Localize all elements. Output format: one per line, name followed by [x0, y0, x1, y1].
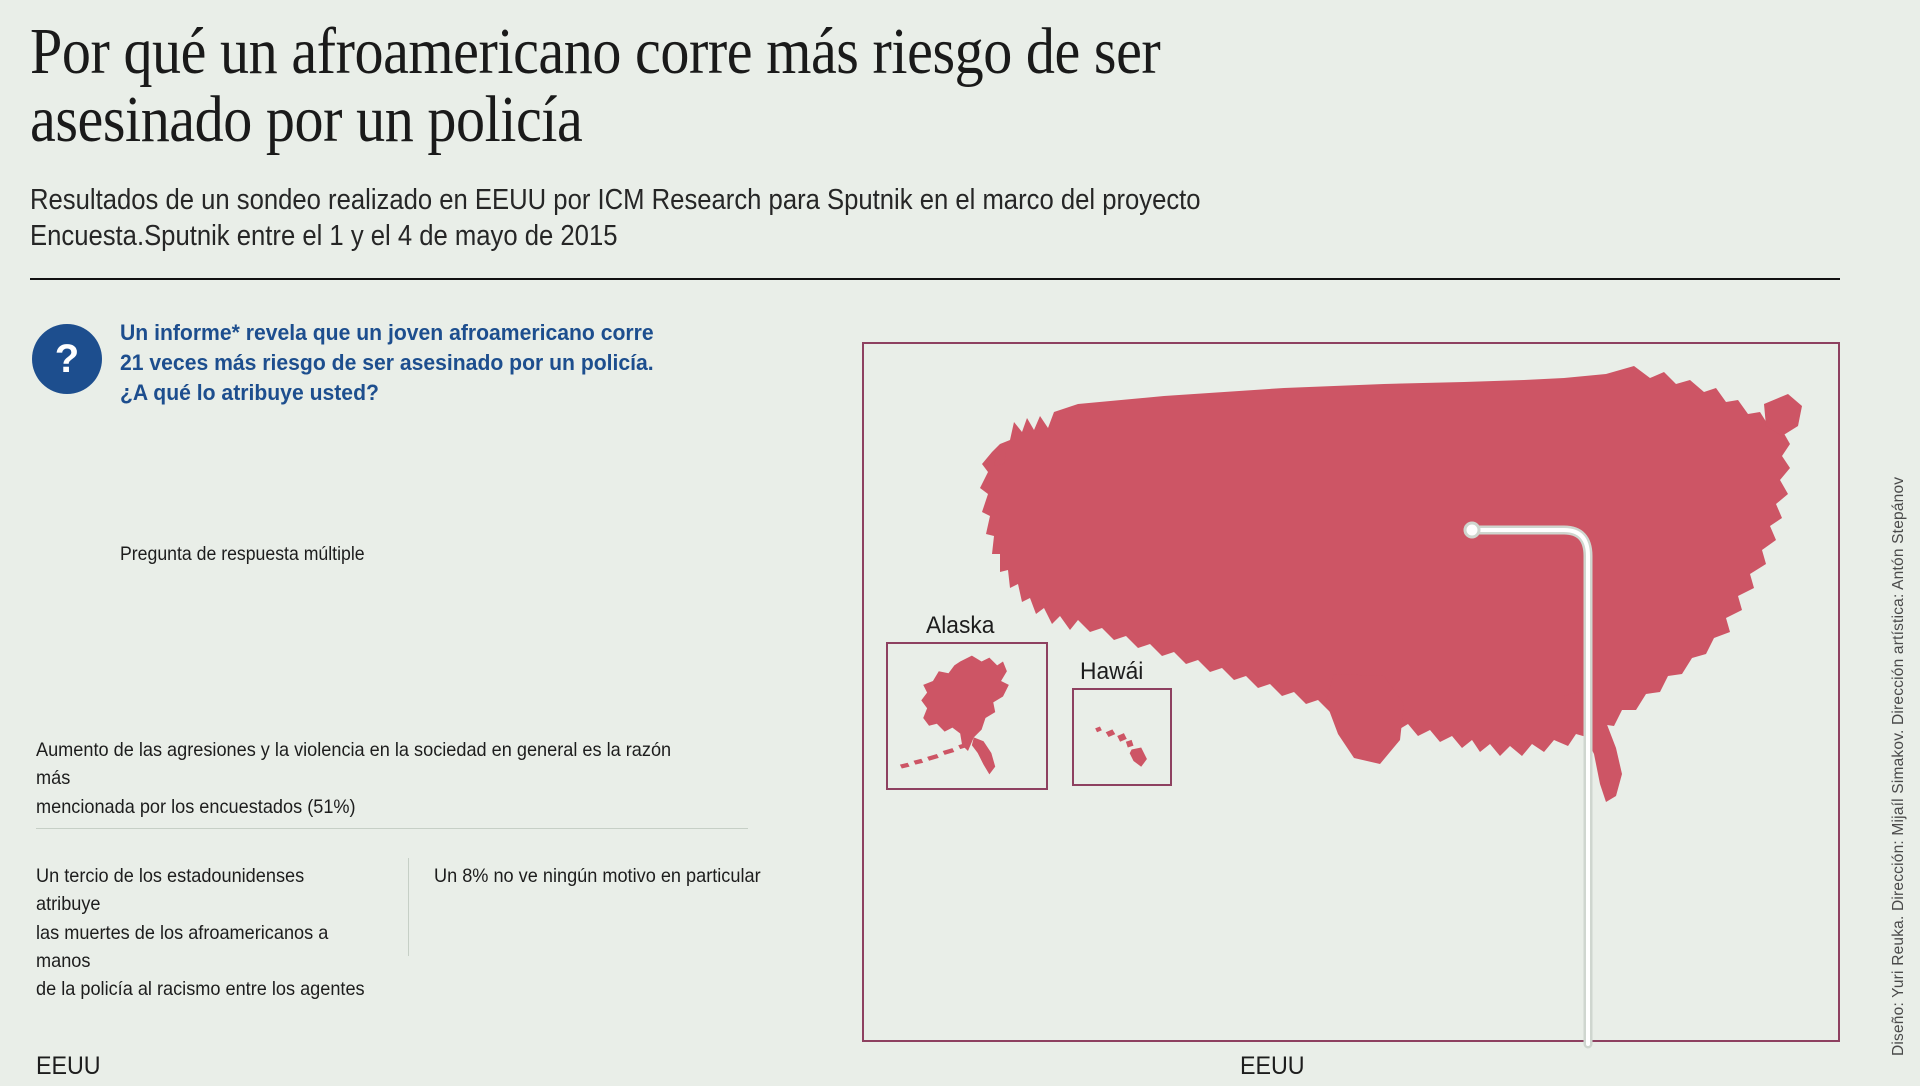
aleutian-islands	[900, 742, 970, 768]
header-divider	[30, 278, 1840, 280]
fact-column-right: Un 8% no ve ningún motivo en particular	[434, 862, 769, 890]
fact-column-left: Un tercio de los estadounidenses atribuy…	[36, 862, 371, 1003]
fact-main: Aumento de las agresiones y la violencia…	[36, 736, 706, 821]
hawaii-inset	[1072, 688, 1172, 786]
facts-column-divider	[408, 858, 409, 956]
question-note: Pregunta de respuesta múltiple	[120, 544, 365, 566]
map-panel: Alaska Hawái	[862, 342, 1840, 1042]
page-subtitle: Resultados de un sondeo realizado en EEU…	[30, 182, 1659, 255]
question-mark-icon: ?	[32, 324, 102, 394]
bottom-label-left: EEUU	[36, 1052, 101, 1081]
alaska-shape	[921, 656, 1009, 751]
hawaii-label: Hawái	[1080, 658, 1143, 686]
hawaii-islands-shape	[1095, 726, 1147, 766]
header: Por qué un afroamericano corre más riesg…	[30, 18, 1840, 255]
question-text: Un informe* revela que un joven afroamer…	[120, 318, 703, 408]
alaska-map	[888, 644, 1046, 788]
map-callout-label: EEUU	[1240, 1052, 1305, 1081]
alaska-label: Alaska	[926, 612, 994, 640]
infographic-page: Por qué un afroamericano corre más riesg…	[0, 0, 1920, 1086]
credit-text: Diseño: Yuri Reuka. Dirección: Mijaíl Si…	[1890, 296, 1916, 1056]
page-title: Por qué un afroamericano corre más riesg…	[30, 18, 1623, 154]
alaska-inset	[886, 642, 1048, 790]
facts-divider	[36, 828, 748, 829]
alaska-panhandle	[972, 737, 995, 774]
hawaii-map	[1074, 690, 1170, 784]
